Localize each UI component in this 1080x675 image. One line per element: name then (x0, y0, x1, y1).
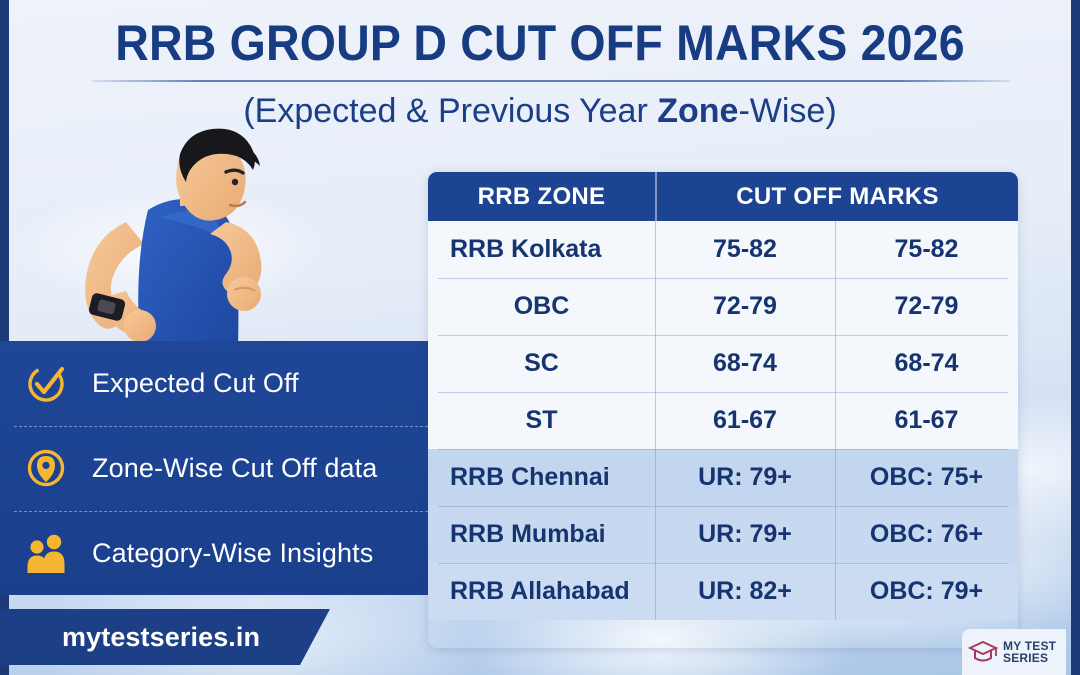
logo-text: MY TEST SERIES (1003, 640, 1056, 664)
website-label: mytestseries.in (62, 622, 260, 653)
cell-zone: RRB Allahabad (428, 577, 655, 606)
cell-value-2: 72-79 (835, 292, 1018, 321)
table-row: SC68-7468-74 (428, 335, 1018, 392)
column-divider (655, 563, 656, 620)
column-header-marks: CUT OFF MARKS (657, 183, 1018, 211)
column-divider (835, 506, 836, 563)
column-divider (655, 506, 656, 563)
runner-illustration (30, 118, 330, 346)
table-row: RRB AllahabadUR: 82+OBC: 79+ (428, 563, 1018, 620)
table-row: OBC72-7972-79 (428, 278, 1018, 335)
cell-value-1: UR: 79+ (655, 520, 835, 549)
cell-value-1: 61-67 (655, 406, 835, 435)
feature-label: Expected Cut Off (92, 368, 299, 399)
column-divider (655, 335, 656, 392)
column-divider (835, 563, 836, 620)
column-header-zone: RRB ZONE (428, 183, 655, 211)
logo-line-2: SERIES (1003, 652, 1056, 664)
table-row: RRB MumbaiUR: 79+OBC: 76+ (428, 506, 1018, 563)
features-panel: Expected Cut Off Zone-Wise Cut Off data (0, 341, 428, 595)
table-row: RRB Kolkata75-8275-82 (428, 221, 1018, 278)
column-divider (655, 278, 656, 335)
cell-value-2: OBC: 76+ (835, 520, 1018, 549)
cell-zone: RRB Mumbai (428, 520, 655, 549)
column-divider (655, 449, 656, 506)
column-divider (835, 221, 836, 278)
table-row: ST61-6761-67 (428, 392, 1018, 449)
feature-separator (14, 511, 428, 512)
infographic-poster: RRB GROUP D CUT OFF MARKS 2026 (Expected… (0, 0, 1080, 675)
cell-value-1: 68-74 (655, 349, 835, 378)
cell-value-2: 68-74 (835, 349, 1018, 378)
cell-zone: SC (428, 349, 655, 378)
column-divider (655, 221, 656, 278)
cell-zone: RRB Kolkata (428, 235, 655, 264)
check-circle-icon (0, 362, 92, 404)
cell-zone: ST (428, 406, 655, 435)
feature-item-zone-wise-data[interactable]: Zone-Wise Cut Off data (0, 426, 428, 510)
cell-value-2: 75-82 (835, 235, 1018, 264)
cell-value-1: UR: 79+ (655, 463, 835, 492)
location-pin-icon (0, 447, 92, 489)
column-divider (835, 449, 836, 506)
column-divider (835, 335, 836, 392)
table-body: RRB Kolkata75-8275-82OBC72-7972-79SC68-7… (428, 221, 1018, 620)
cell-zone: OBC (428, 292, 655, 321)
feature-separator (14, 426, 428, 427)
subtitle-suffix: -Wise) (738, 92, 836, 130)
column-divider (655, 392, 656, 449)
column-divider (835, 392, 836, 449)
table-header-row: RRB ZONE CUT OFF MARKS (428, 172, 1018, 221)
cell-zone: RRB Chennai (428, 463, 655, 492)
column-divider (835, 278, 836, 335)
feature-item-expected-cut-off[interactable]: Expected Cut Off (0, 341, 428, 425)
title-divider (92, 80, 1010, 82)
feature-item-category-wise-insights[interactable]: Category-Wise Insights (0, 511, 428, 595)
cell-value-2: OBC: 75+ (835, 463, 1018, 492)
table-row: RRB ChennaiUR: 79+OBC: 75+ (428, 449, 1018, 506)
cell-value-1: 75-82 (655, 235, 835, 264)
subtitle-bold: Zone (657, 92, 738, 130)
cell-value-1: 72-79 (655, 292, 835, 321)
feature-label: Zone-Wise Cut Off data (92, 453, 377, 484)
cutoff-table: RRB ZONE CUT OFF MARKS RRB Kolkata75-827… (428, 172, 1018, 648)
cell-value-1: UR: 82+ (655, 577, 835, 606)
brand-logo: MY TEST SERIES (962, 629, 1066, 675)
graduation-cap-icon (968, 637, 998, 667)
people-icon (0, 532, 92, 574)
page-title: RRB GROUP D CUT OFF MARKS 2026 (38, 18, 1042, 68)
cell-value-2: OBC: 79+ (835, 577, 1018, 606)
feature-label: Category-Wise Insights (92, 538, 373, 569)
cell-value-2: 61-67 (835, 406, 1018, 435)
